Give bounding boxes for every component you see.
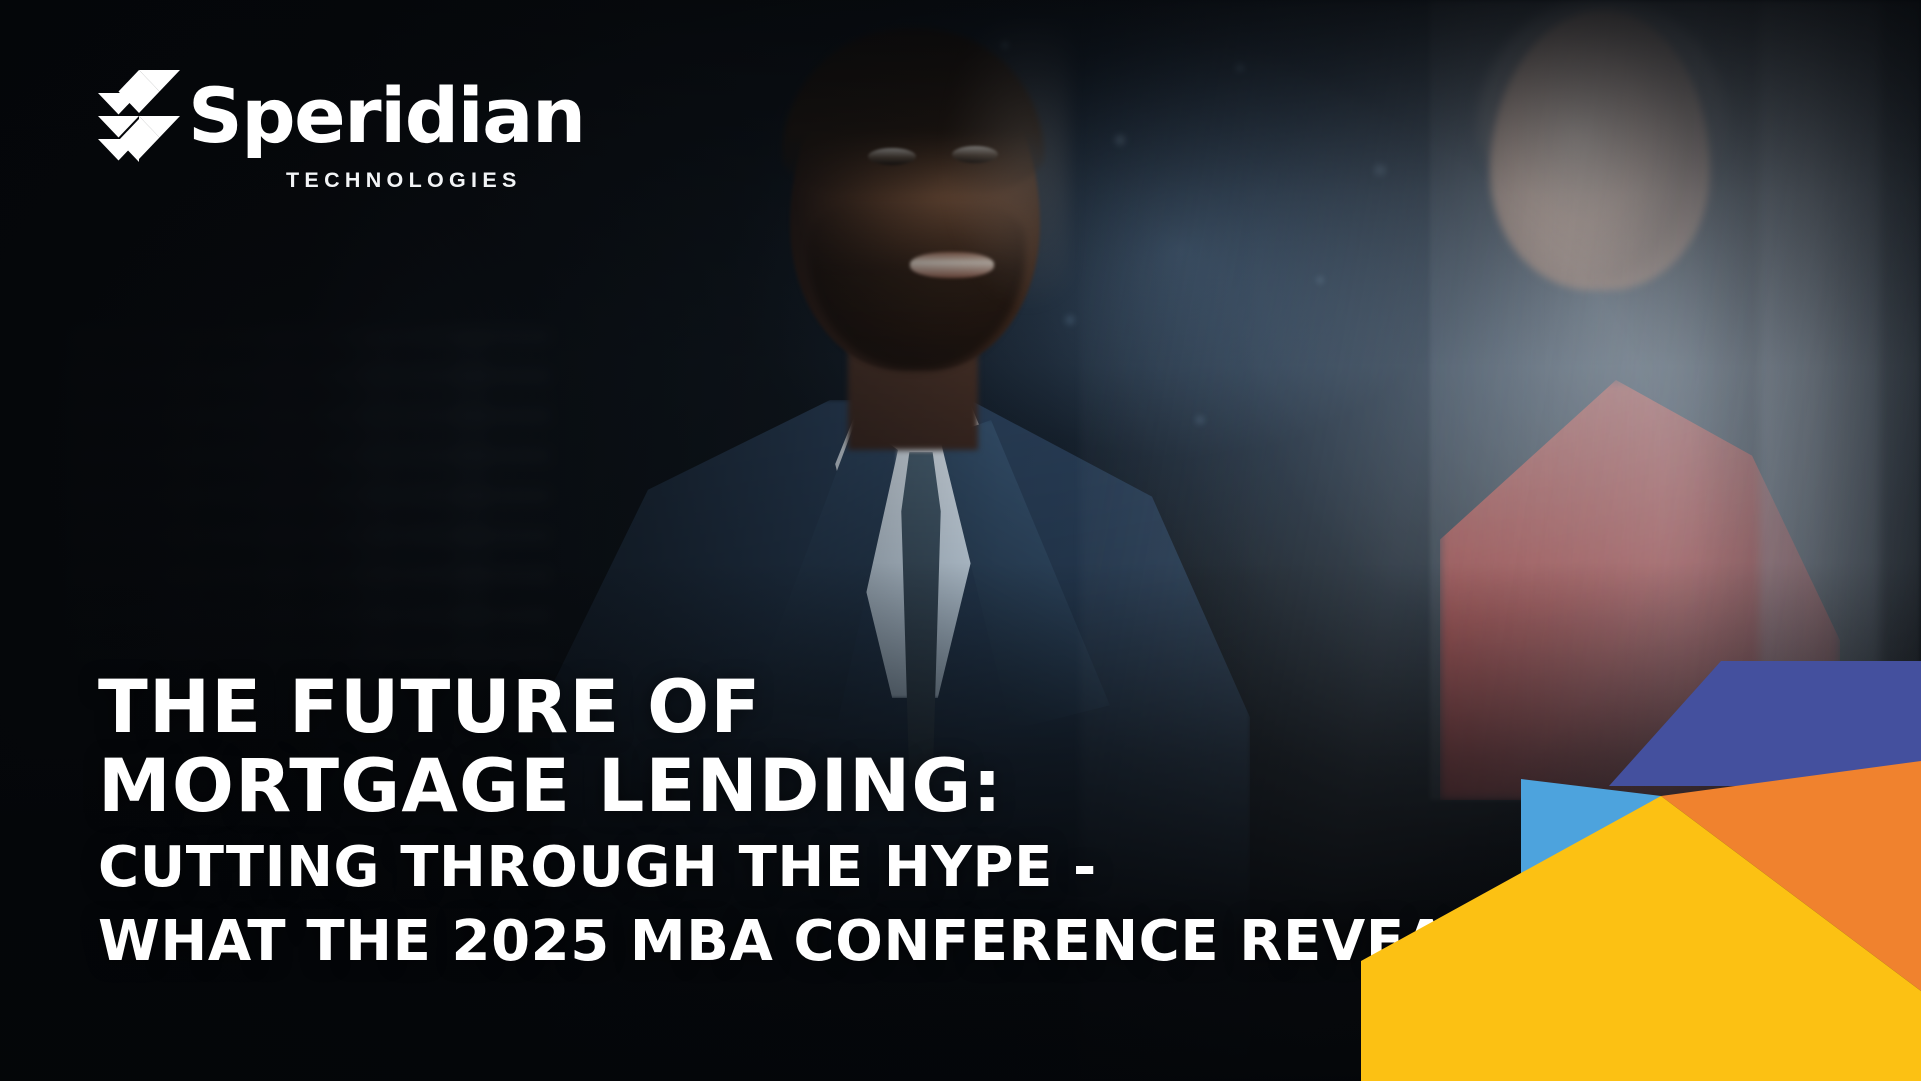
headline-line-3: CUTTING THROUGH THE HYPE - xyxy=(98,836,1571,899)
brand-tagline: TECHNOLOGIES xyxy=(286,168,522,193)
headline-block: THE FUTURE OF MORTGAGE LENDING: CUTTING … xyxy=(98,668,1571,973)
marketing-banner: Speridian TECHNOLOGIES THE FUTURE OF MOR… xyxy=(0,0,1921,1081)
brand-logo[interactable]: Speridian TECHNOLOGIES xyxy=(96,68,585,193)
headline-line-1: THE FUTURE OF xyxy=(98,668,1571,747)
logo-row: Speridian xyxy=(96,68,585,164)
headline-line-2: MORTGAGE LENDING: xyxy=(98,747,1571,826)
hexagon-triangles-icon xyxy=(96,68,182,164)
headline-line-4: WHAT THE 2025 MBA CONFERENCE REVEALED xyxy=(98,910,1571,973)
brand-name: Speridian xyxy=(188,80,585,153)
